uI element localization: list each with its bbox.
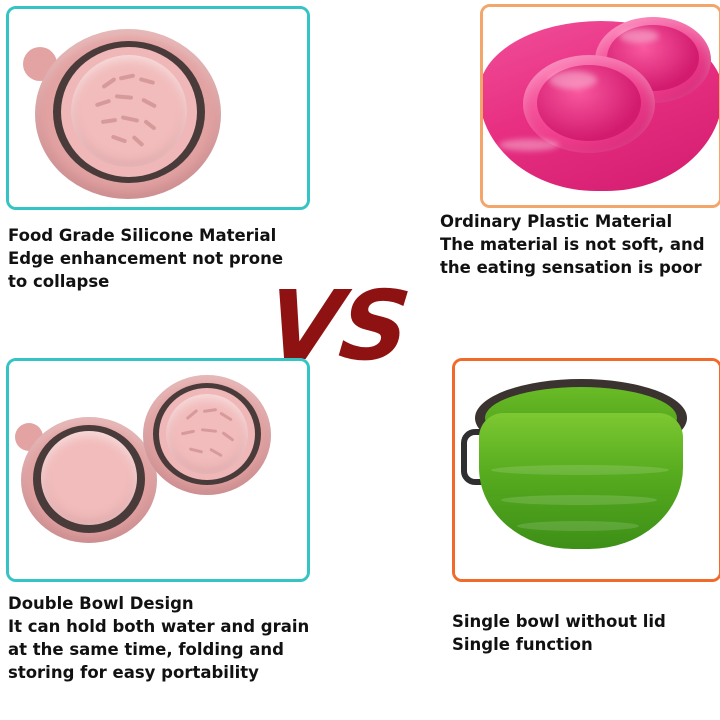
product-image-double-bowl-set xyxy=(9,361,307,579)
product-image-plastic-double-bowl xyxy=(483,7,719,205)
panel-top-left xyxy=(6,6,310,210)
caption-top-left: Food Grade Silicone Material Edge enhanc… xyxy=(8,224,308,293)
bowl-fold-line xyxy=(491,465,669,475)
panel-bottom-left xyxy=(6,358,310,582)
comparison-collage: Food Grade Silicone Material Edge enhanc… xyxy=(0,0,720,720)
caption-top-right: Ordinary Plastic Material The material i… xyxy=(440,210,720,279)
caption-bottom-right: Single bowl without lid Single function xyxy=(452,610,718,656)
bowl-lid-right xyxy=(166,394,248,474)
caption-bottom-left: Double Bowl Design It can hold both wate… xyxy=(8,592,348,684)
panel-top-right xyxy=(480,4,720,208)
bowl-lid xyxy=(71,55,187,167)
plastic-highlight xyxy=(499,139,559,151)
product-image-green-collapsible-bowl xyxy=(455,361,719,579)
bowl-lid-left xyxy=(41,431,137,525)
plastic-highlight xyxy=(619,29,659,43)
plastic-highlight xyxy=(549,71,597,89)
bowl-fold-line xyxy=(501,495,657,505)
bowl-fold-line xyxy=(517,521,639,531)
product-image-silicone-bowl-lid xyxy=(9,9,307,207)
panel-bottom-right xyxy=(452,358,720,582)
